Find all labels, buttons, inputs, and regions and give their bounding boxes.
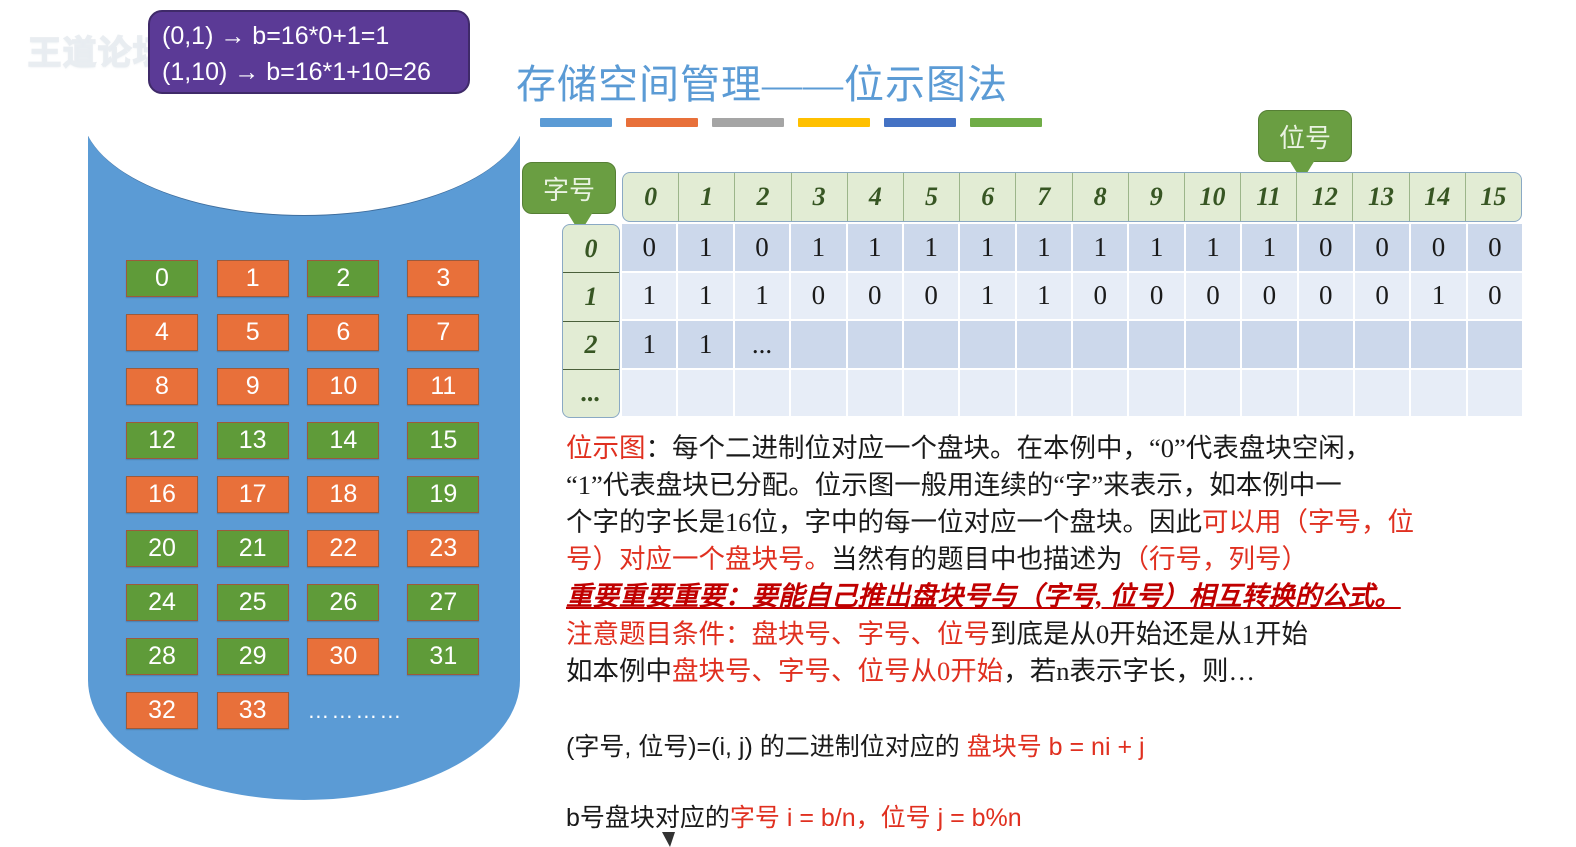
disk-block: 6 bbox=[307, 314, 379, 351]
paragraph-4-red-a: 号）对应一个盘块号。 bbox=[566, 544, 831, 574]
slide-canvas: 王道论坛 (0,1) → b=16*0+1=1 (1,10) → b=16*1+… bbox=[0, 0, 1576, 847]
disk-top-surface bbox=[88, 112, 520, 216]
bitmap-cell bbox=[1017, 370, 1073, 417]
disk-block: 0 bbox=[126, 260, 198, 297]
bitmap-col-header: 9 bbox=[1129, 173, 1185, 221]
formula-callout-box: (0,1) → b=16*0+1=1 (1,10) → b=16*1+10=26 bbox=[148, 10, 470, 94]
formula-word-bit: b号盘块对应的字号 i = b/n，位号 j = b%n bbox=[566, 798, 1532, 834]
disk-block: 8 bbox=[126, 368, 198, 405]
bitmap-cell bbox=[960, 321, 1016, 368]
bitmap-cell bbox=[1017, 321, 1073, 368]
paragraph-7-red: 盘块号、字号、位号从0开始 bbox=[672, 656, 1003, 686]
bitmap-cell bbox=[1299, 370, 1355, 417]
disk-block: 11 bbox=[407, 368, 479, 405]
bitmap-cell: 1 bbox=[960, 224, 1016, 271]
page-title: 存储空间管理——位示图法 bbox=[516, 52, 1008, 110]
bitmap-table-row: 1110001100000010 bbox=[622, 273, 1522, 322]
bitmap-cell: 0 bbox=[1355, 224, 1411, 271]
disk-block: 24 bbox=[126, 584, 198, 621]
bitmap-cell bbox=[1468, 370, 1522, 417]
bitmap-cell bbox=[1355, 370, 1411, 417]
bitmap-cell bbox=[848, 321, 904, 368]
disk-block: 30 bbox=[307, 638, 379, 675]
paragraph-4-red-b: （行号，列号） bbox=[1123, 544, 1309, 574]
disk-block: 4 bbox=[126, 314, 198, 351]
bitmap-row-header: 2 bbox=[563, 322, 619, 370]
bitmap-cell: 0 bbox=[1242, 273, 1298, 320]
disk-block: 31 bbox=[407, 638, 479, 675]
bitmap-column-headers: 0123456789101112131415 bbox=[622, 172, 1522, 222]
disk-block: 19 bbox=[407, 476, 479, 513]
bitmap-col-header: 11 bbox=[1241, 173, 1297, 221]
disk-block: 3 bbox=[407, 260, 479, 297]
bitmap-cell: 0 bbox=[1073, 273, 1129, 320]
bitmap-cell: 1 bbox=[1073, 224, 1129, 271]
disk-block: 5 bbox=[217, 314, 289, 351]
bitmap-table-body: 0101111111110000111000110000001011... bbox=[622, 224, 1522, 418]
mouse-cursor bbox=[662, 832, 675, 847]
disk-block: 26 bbox=[307, 584, 379, 621]
bitmap-row-headers: 012... bbox=[562, 224, 620, 418]
paragraph-2: “1”代表盘块已分配。位示图一般用连续的“字”来表示，如本例中一 bbox=[566, 467, 1532, 504]
disk-block: 22 bbox=[307, 530, 379, 567]
bitmap-row-header: ... bbox=[563, 370, 619, 417]
title-accent-bar-2 bbox=[712, 118, 784, 127]
bitmap-cell bbox=[1242, 370, 1298, 417]
paragraph-7-black-b: ，若n表示字长，则… bbox=[1003, 656, 1255, 686]
bitmap-cell: 0 bbox=[848, 273, 904, 320]
disk-block: 13 bbox=[217, 422, 289, 459]
disk-block: 27 bbox=[407, 584, 479, 621]
formula-2-black: b号盘块对应的 bbox=[566, 804, 730, 832]
important-note: 重要重要重要：要能自己推出盘块号与（字号, 位号）相互转换的公式。 bbox=[566, 578, 1532, 615]
disk-block: 2 bbox=[307, 260, 379, 297]
disk-block: 9 bbox=[217, 368, 289, 405]
disk-block-grid: 0123456789101112131415161718192021222324… bbox=[126, 260, 494, 729]
bitmap-cell: ... bbox=[735, 321, 791, 368]
bitmap-cell bbox=[960, 370, 1016, 417]
paragraph-3-black: 个字的字长是16位，字中的每一位对应一个盘块。因此 bbox=[566, 507, 1202, 537]
disk-block: 18 bbox=[307, 476, 379, 513]
bitmap-cell bbox=[1073, 321, 1129, 368]
title-accent-bar-5 bbox=[970, 118, 1042, 127]
bitmap-cell: 1 bbox=[1017, 224, 1073, 271]
paragraph-7: 如本例中盘块号、字号、位号从0开始，若n表示字长，则… bbox=[566, 653, 1532, 690]
bitmap-cell bbox=[1129, 321, 1185, 368]
disk-block: 7 bbox=[407, 314, 479, 351]
bitmap-cell: 0 bbox=[904, 273, 960, 320]
bitmap-cell: 0 bbox=[1355, 273, 1411, 320]
bitmap-row-header: 0 bbox=[563, 225, 619, 273]
title-accent-bar-3 bbox=[798, 118, 870, 127]
bitmap-cell: 1 bbox=[848, 224, 904, 271]
bitmap-cell bbox=[791, 321, 847, 368]
bitmap-cell bbox=[1355, 321, 1411, 368]
bitmap-cell: 1 bbox=[678, 321, 734, 368]
paragraph-6: 注意题目条件：盘块号、字号、位号到底是从0开始还是从1开始 bbox=[566, 616, 1532, 653]
bitmap-cell: 1 bbox=[1411, 273, 1467, 320]
bitmap-cell bbox=[791, 370, 847, 417]
paragraph-3-red: 可以用（字号，位 bbox=[1202, 507, 1414, 537]
bitmap-cell: 1 bbox=[791, 224, 847, 271]
disk-block: 14 bbox=[307, 422, 379, 459]
disk-blocks-ellipsis: ………… bbox=[307, 692, 403, 729]
bitmap-table-row: 0101111111110000 bbox=[622, 224, 1522, 273]
bitmap-col-header: 13 bbox=[1353, 173, 1409, 221]
paragraph-6-red: 注意题目条件：盘块号、字号、位号 bbox=[566, 619, 990, 649]
bitmap-cell: 1 bbox=[678, 224, 734, 271]
bitmap-col-header: 6 bbox=[960, 173, 1016, 221]
bitmap-col-header: 8 bbox=[1073, 173, 1129, 221]
formula-1-red: 盘块号 b = ni + j bbox=[967, 733, 1145, 761]
bitmap-cell: 0 bbox=[1411, 224, 1467, 271]
disk-block: 28 bbox=[126, 638, 198, 675]
bitmap-col-header: 2 bbox=[735, 173, 791, 221]
bitmap-cell: 0 bbox=[1468, 273, 1522, 320]
title-accent-bar-4 bbox=[884, 118, 956, 127]
bitmap-cell bbox=[1129, 370, 1185, 417]
disk-block: 12 bbox=[126, 422, 198, 459]
bitmap-cell: 1 bbox=[1242, 224, 1298, 271]
title-accent-bars bbox=[540, 118, 1042, 127]
bitmap-cell: 1 bbox=[1129, 224, 1185, 271]
disk-block: 17 bbox=[217, 476, 289, 513]
disk-block: 10 bbox=[307, 368, 379, 405]
bitmap-col-header: 14 bbox=[1410, 173, 1466, 221]
formula-block-number: (字号, 位号)=(i, j) 的二进制位对应的 盘块号 b = ni + j bbox=[566, 727, 1532, 763]
bit-number-callout: 位号 bbox=[1258, 110, 1352, 162]
bitmap-col-header: 10 bbox=[1185, 173, 1241, 221]
disk-block: 15 bbox=[407, 422, 479, 459]
bitmap-cell bbox=[1186, 370, 1242, 417]
bitmap-cell bbox=[1411, 321, 1467, 368]
bitmap-col-header: 7 bbox=[1016, 173, 1072, 221]
disk-block: 23 bbox=[407, 530, 479, 567]
bitmap-cell bbox=[622, 370, 678, 417]
bitmap-cell: 1 bbox=[735, 273, 791, 320]
paragraph-6-black: 到底是从0开始还是从1开始 bbox=[990, 619, 1308, 649]
disk-block: 1 bbox=[217, 260, 289, 297]
bitmap-col-header: 12 bbox=[1297, 173, 1353, 221]
bitmap-cell: 1 bbox=[622, 273, 678, 320]
bitmap-table-row bbox=[622, 370, 1522, 419]
bitmap-cell bbox=[1073, 370, 1129, 417]
bitmap-cell: 1 bbox=[960, 273, 1016, 320]
formula-2-red: 字号 i = b/n，位号 j = b%n bbox=[730, 804, 1022, 832]
formula-1-black: (字号, 位号)=(i, j) 的二进制位对应的 bbox=[566, 733, 960, 761]
paragraph-4: 号）对应一个盘块号。当然有的题目中也描述为（行号，列号） bbox=[566, 541, 1532, 578]
bitmap-col-header: 4 bbox=[848, 173, 904, 221]
title-accent-bar-1 bbox=[626, 118, 698, 127]
disk-block: 29 bbox=[217, 638, 289, 675]
formula-line-1: (0,1) → b=16*0+1=1 bbox=[162, 18, 456, 54]
bitmap-cell bbox=[904, 321, 960, 368]
disk-block: 21 bbox=[217, 530, 289, 567]
word-number-callout: 字号 bbox=[522, 162, 616, 214]
bitmap-cell bbox=[1242, 321, 1298, 368]
bitmap-cell bbox=[1299, 321, 1355, 368]
explanation-text: 位示图：每个二进制位对应一个盘块。在本例中，“0”代表盘块空闲， “1”代表盘块… bbox=[566, 430, 1532, 690]
paragraph-1-rest: ：每个二进制位对应一个盘块。在本例中，“0”代表盘块空闲， bbox=[646, 433, 1372, 463]
bitmap-cell: 0 bbox=[1468, 224, 1522, 271]
bitmap-cell: 1 bbox=[1017, 273, 1073, 320]
paragraph-7-black-a: 如本例中 bbox=[566, 656, 672, 686]
bitmap-cell: 1 bbox=[678, 273, 734, 320]
bitmap-cell bbox=[735, 370, 791, 417]
bitmap-cell: 1 bbox=[904, 224, 960, 271]
bitmap-table-row: 11... bbox=[622, 321, 1522, 370]
forum-watermark: 王道论坛 bbox=[28, 26, 168, 74]
bitmap-cell: 0 bbox=[1299, 224, 1355, 271]
bitmap-cell bbox=[1468, 321, 1522, 368]
bitmap-cell: 0 bbox=[1186, 273, 1242, 320]
bitmap-cell bbox=[1186, 321, 1242, 368]
bitmap-col-header: 5 bbox=[904, 173, 960, 221]
term-bitmap: 位示图 bbox=[566, 433, 646, 463]
disk-block: 25 bbox=[217, 584, 289, 621]
bitmap-row-header: 1 bbox=[563, 273, 619, 321]
disk-block: 16 bbox=[126, 476, 198, 513]
paragraph-3: 个字的字长是16位，字中的每一位对应一个盘块。因此可以用（字号，位 bbox=[566, 504, 1532, 541]
disk-cylinder: 0123456789101112131415161718192021222324… bbox=[88, 112, 520, 800]
bitmap-cell: 0 bbox=[791, 273, 847, 320]
bitmap-cell bbox=[848, 370, 904, 417]
bitmap-cell: 1 bbox=[1186, 224, 1242, 271]
disk-block: 20 bbox=[126, 530, 198, 567]
bitmap-cell bbox=[904, 370, 960, 417]
paragraph-4-black: 当然有的题目中也描述为 bbox=[831, 544, 1123, 574]
bitmap-cell: 0 bbox=[1129, 273, 1185, 320]
bitmap-col-header: 0 bbox=[623, 173, 679, 221]
bitmap-cell bbox=[1411, 370, 1467, 417]
bitmap-cell: 0 bbox=[622, 224, 678, 271]
paragraph-1: 位示图：每个二进制位对应一个盘块。在本例中，“0”代表盘块空闲， bbox=[566, 430, 1532, 467]
disk-block: 32 bbox=[126, 692, 198, 729]
bitmap-cell: 1 bbox=[622, 321, 678, 368]
bitmap-cell bbox=[678, 370, 734, 417]
bitmap-cell: 0 bbox=[735, 224, 791, 271]
formula-line-2: (1,10) → b=16*1+10=26 bbox=[162, 54, 456, 90]
bitmap-cell: 0 bbox=[1299, 273, 1355, 320]
bitmap-col-header: 3 bbox=[792, 173, 848, 221]
disk-block: 33 bbox=[217, 692, 289, 729]
title-accent-bar-0 bbox=[540, 118, 612, 127]
bitmap-col-header: 1 bbox=[679, 173, 735, 221]
bitmap-col-header: 15 bbox=[1466, 173, 1521, 221]
